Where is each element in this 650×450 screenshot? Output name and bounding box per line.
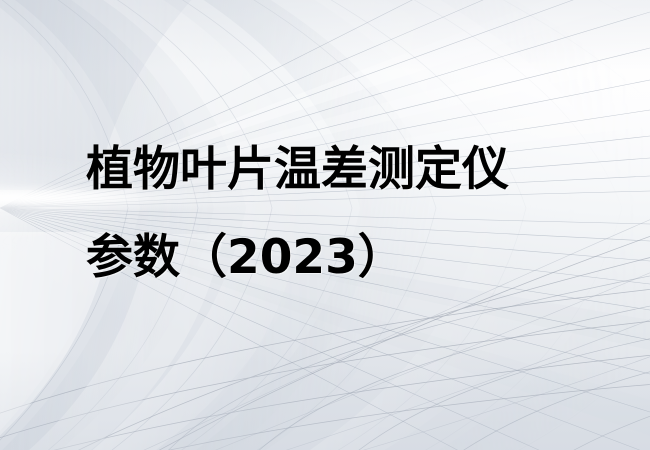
title-line-2: 参数（2023） [86,214,556,302]
title-line-1: 植物叶片温差测定仪 [86,126,556,214]
title-banner: 植物叶片温差测定仪 参数（2023） [0,0,650,450]
page-title: 植物叶片温差测定仪 参数（2023） [86,126,556,302]
